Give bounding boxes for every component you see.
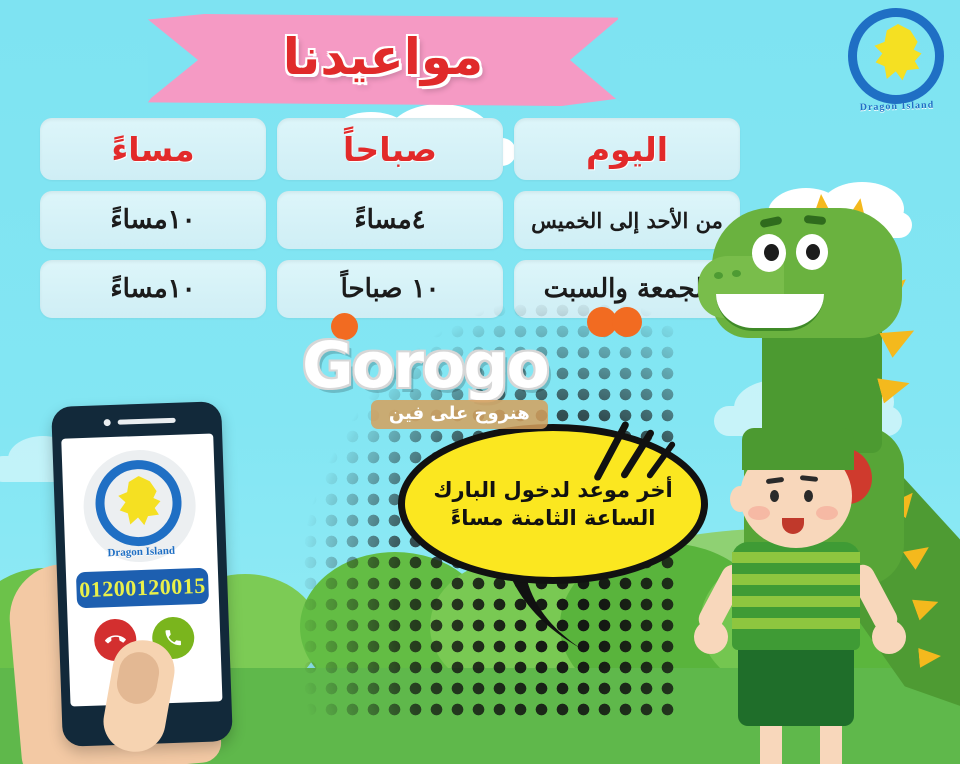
phone-brand-logo: Dragon Island <box>82 448 198 564</box>
title-ribbon: مواعيدنا <box>148 14 618 106</box>
row2-evening-cell: ١٠مساءً <box>40 260 266 318</box>
watermark-brand: Gorogo <box>302 336 548 396</box>
phone-number-display[interactable]: 01200120015 <box>76 568 209 609</box>
brand-logo: Dragon Island <box>842 4 952 114</box>
dragon-nostril <box>714 272 723 279</box>
boy-ear <box>730 486 750 512</box>
boy-hand-left <box>694 620 728 654</box>
logo-label: Dragon Island <box>842 99 952 114</box>
bubble-line-2: الساعة الثامنة مساءً <box>451 504 656 532</box>
row1-morning-value: ٤مساءً <box>354 205 425 235</box>
header-evening-label: مساءً <box>111 130 194 169</box>
boy-eye <box>804 490 813 502</box>
schedule-table: اليوم صباحاً مساءً من الأحد إلى الخميس ٤… <box>40 118 740 318</box>
bubble-line-1: أخر موعد لدخول البارك <box>433 476 672 504</box>
row1-evening-value: ١٠مساءً <box>110 205 195 235</box>
poster-canvas: مواعيدنا Dragon Island اليوم صباحاً مساء… <box>0 0 960 764</box>
row1-morning-cell: ٤مساءً <box>277 191 503 249</box>
table-header-row: اليوم صباحاً مساءً <box>40 118 740 180</box>
boy-cheek <box>748 506 770 520</box>
boy-character <box>694 434 924 764</box>
boy-eye <box>770 490 779 502</box>
phone-logo-label: Dragon Island <box>85 544 197 560</box>
table-row: من الأحد إلى الخميس ٤مساءً ١٠مساءً <box>40 191 740 249</box>
header-cell-morning: صباحاً <box>277 118 503 180</box>
page-title: مواعيدنا <box>148 14 618 106</box>
watermark: Gorogo هنروح على فين <box>302 336 548 429</box>
orange-dot-decor <box>612 307 642 337</box>
header-cell-evening: مساءً <box>40 118 266 180</box>
phone-icon <box>163 628 184 649</box>
boy-hand-right <box>872 620 906 654</box>
watermark-tagline: هنروح على فين <box>371 400 548 429</box>
boy-dragon-hat <box>742 428 854 470</box>
dragon-back-spike <box>877 371 913 404</box>
boy-shirt <box>732 542 860 650</box>
boy-cheek <box>816 506 838 520</box>
dragon-pupil <box>806 244 820 260</box>
header-morning-label: صباحاً <box>343 130 437 169</box>
speech-bubble-group: أخر موعد لدخول البارك الساعة الثامنة مسا… <box>398 424 726 654</box>
speech-bubble: أخر موعد لدخول البارك الساعة الثامنة مسا… <box>398 424 708 584</box>
dragon-pupil <box>764 244 779 261</box>
row2-evening-value: ١٠مساءً <box>110 274 195 304</box>
dragon-nostril <box>732 270 741 277</box>
header-day-label: اليوم <box>586 130 668 169</box>
row1-evening-cell: ١٠مساءً <box>40 191 266 249</box>
header-cell-day: اليوم <box>514 118 740 180</box>
boy-shorts <box>738 642 854 726</box>
